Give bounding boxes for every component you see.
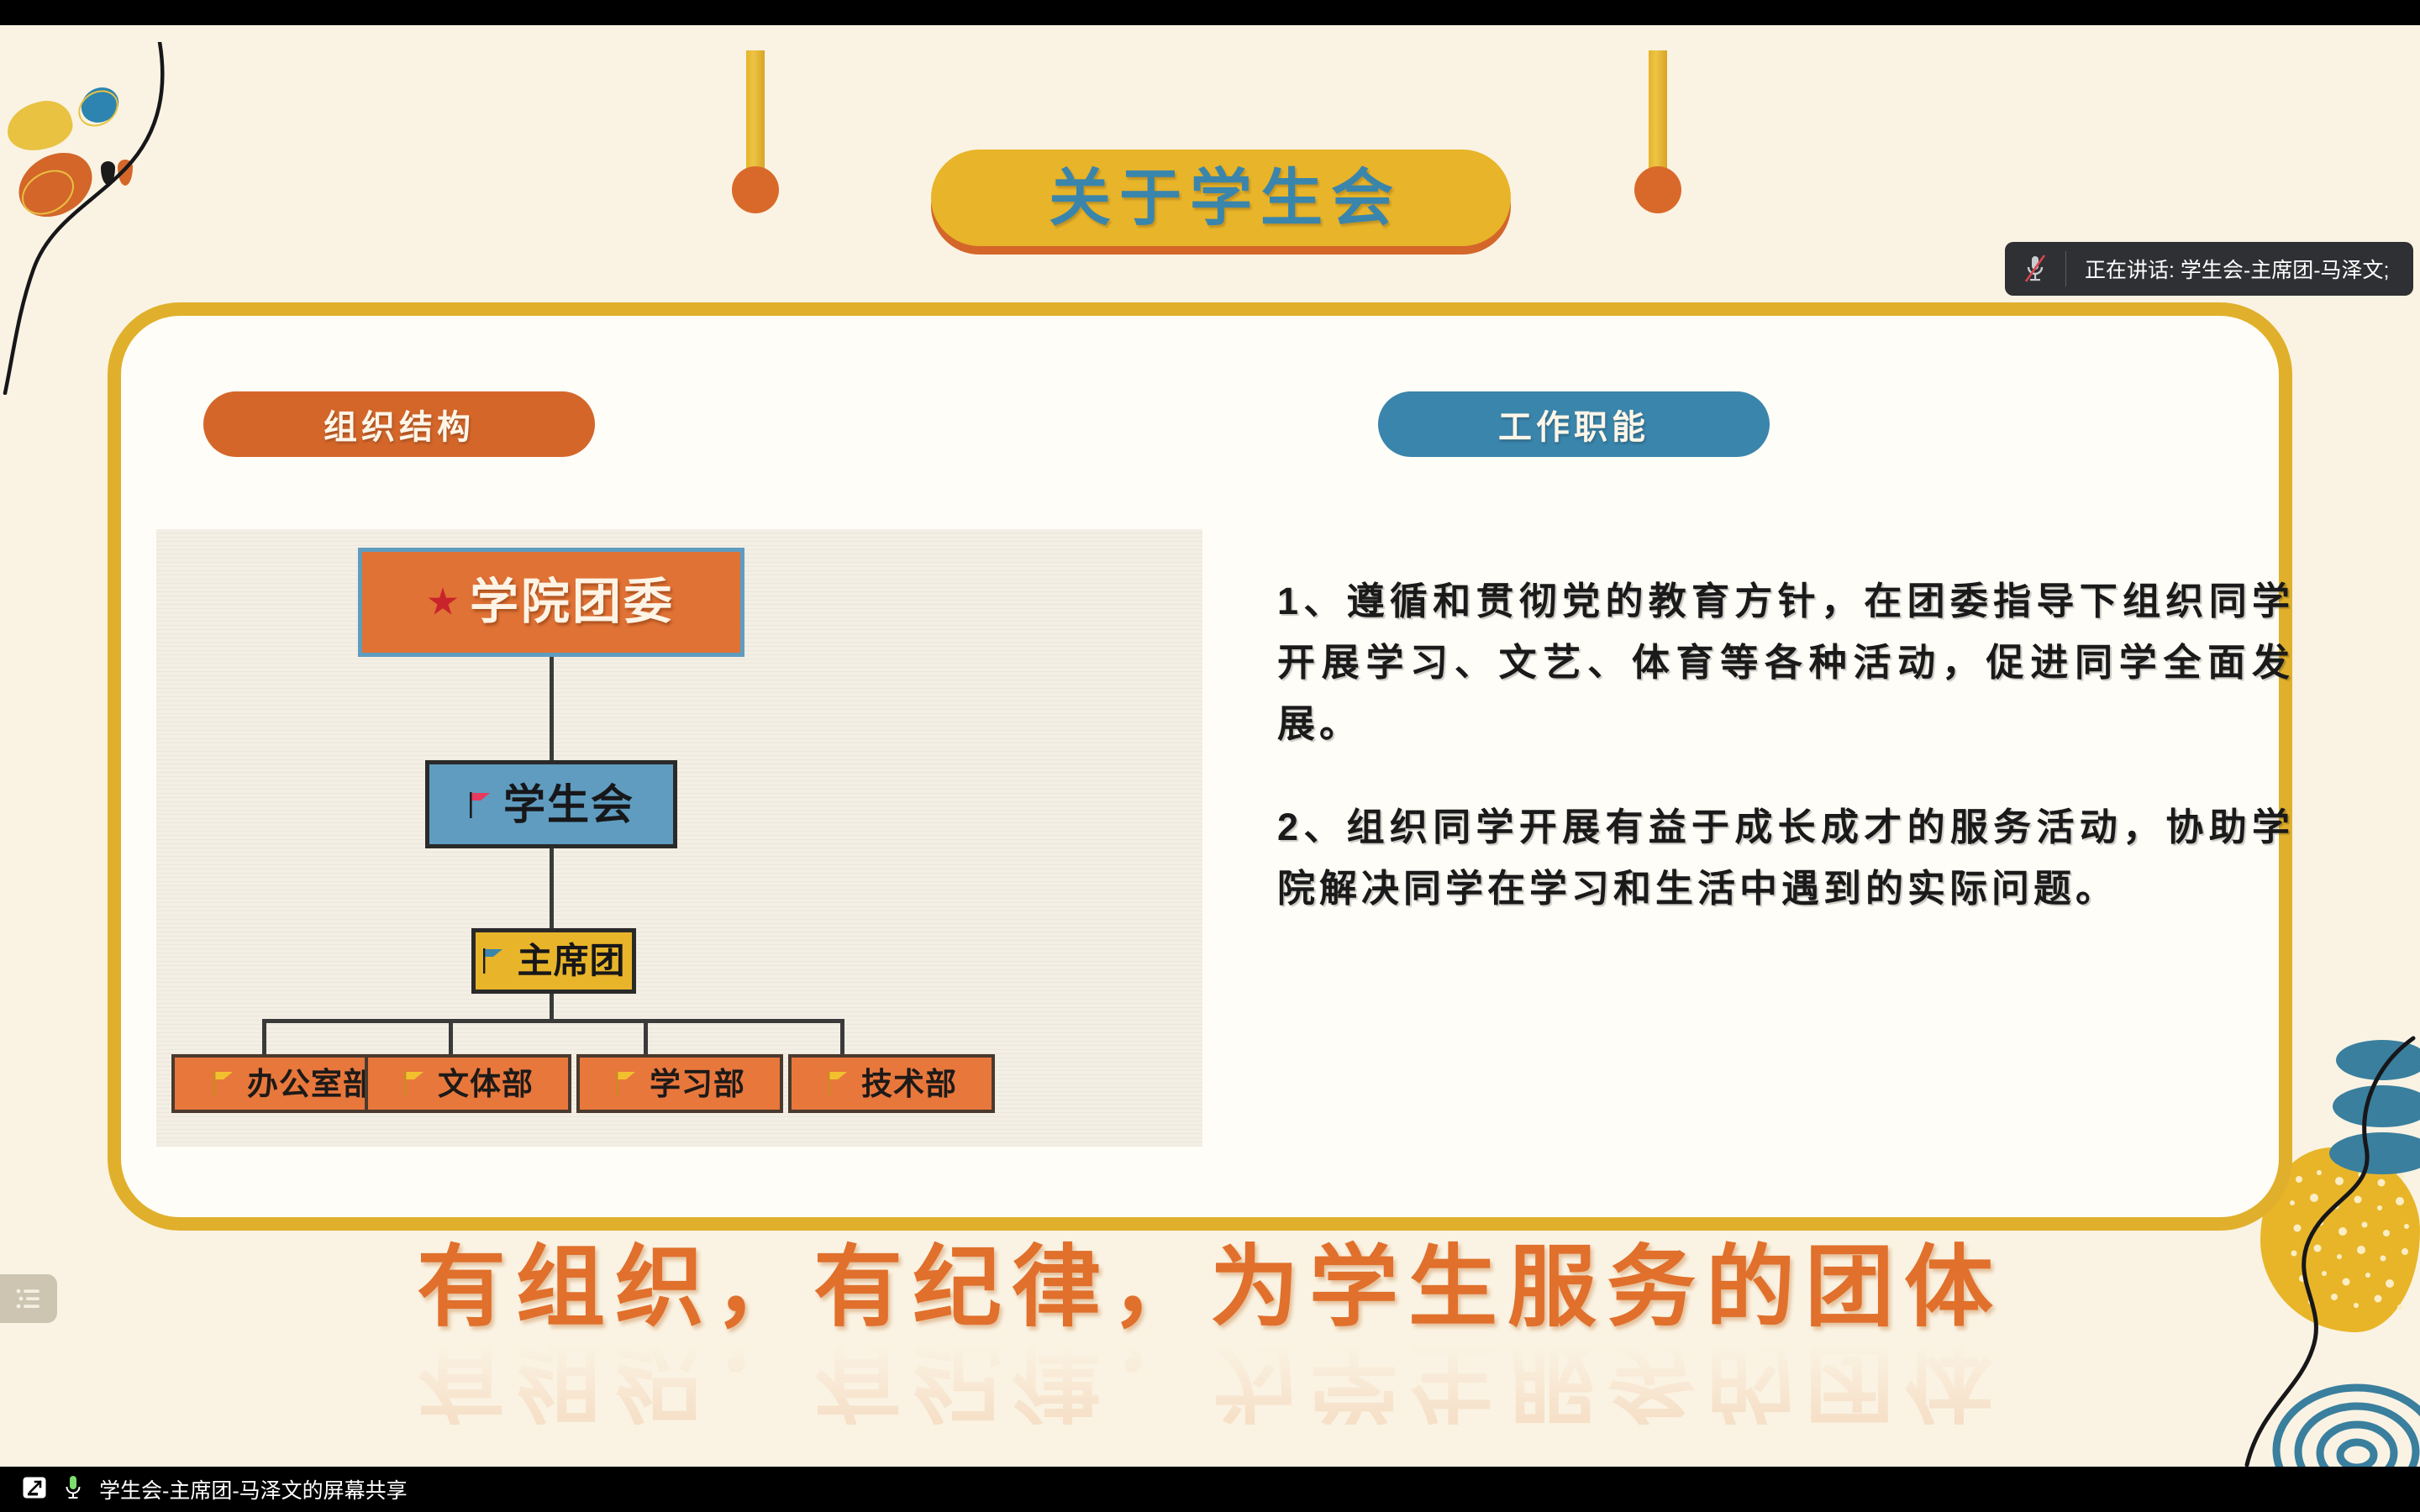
- connector-dept-3: [644, 1019, 648, 1054]
- org-node-level3-label: 主席团: [517, 943, 625, 979]
- org-node-college-youth-league: 学院团委: [358, 548, 744, 657]
- org-node-department-culture-sports: 文体部: [365, 1054, 571, 1113]
- connector-dept-4: [840, 1019, 844, 1054]
- screen-share-viewport: 关于学生会 组织结构 工作职能 学院团委: [0, 0, 2420, 1512]
- hanger-ball-right-icon: [1634, 166, 1681, 213]
- org-node-student-union: 学生会: [425, 760, 677, 848]
- yellow-flag-icon: [826, 1069, 850, 1098]
- hanger-ball-left-icon: [732, 166, 779, 213]
- decor-orange-teardrop-icon: [118, 160, 133, 186]
- function-paragraph-2: 2、组织同学开展有益于成长成才的服务活动，协助学院解决同学在学习和生活中遇到的实…: [1277, 797, 2294, 920]
- screen-share-icon[interactable]: [22, 1476, 47, 1504]
- decor-blue-pill-2-icon: [2333, 1085, 2420, 1127]
- decor-dark-teardrop-icon: [101, 161, 115, 185]
- connector-l1-l2: [550, 657, 554, 760]
- org-node-department-technology: 技术部: [788, 1054, 995, 1113]
- slide-tagline: 有组织，有纪律，为学生服务的团体: [417, 1243, 2003, 1332]
- section-header-organization-structure: 组织结构: [203, 391, 595, 457]
- connector-l2-l3: [550, 848, 554, 928]
- yellow-flag-icon: [402, 1069, 426, 1098]
- screen-share-status-bar: 学生会-主席团-马泽文的屏幕共享: [0, 1467, 2420, 1512]
- department-label-3: 技术部: [861, 1068, 957, 1100]
- red-flag-icon: [468, 790, 492, 819]
- mic-active-icon[interactable]: [64, 1474, 82, 1505]
- org-node-department-study: 学习部: [576, 1054, 783, 1113]
- department-label-2: 学习部: [650, 1068, 745, 1100]
- yellow-flag-icon: [614, 1069, 638, 1098]
- decor-blue-ellipse-ring-icon: [71, 83, 125, 134]
- connector-l3-down: [550, 994, 554, 1019]
- slide-tagline-reflection: 有组织，有纪律，为学生服务的团体: [0, 1336, 2420, 1425]
- section-header-right-label: 工作职能: [1498, 400, 1649, 449]
- hanger-right: [1649, 50, 1667, 176]
- blue-flag-icon: [481, 947, 505, 975]
- department-label-0: 办公室部: [247, 1068, 375, 1100]
- active-speaker-banner[interactable]: 正在讲话: 学生会-主席团-马泽文;: [2005, 242, 2413, 296]
- page-title: 关于学生会: [1040, 167, 1402, 229]
- yellow-flag-icon: [212, 1069, 235, 1098]
- section-header-left-label: 组织结构: [324, 400, 475, 449]
- decor-yellow-blob-icon: [2, 95, 76, 156]
- list-menu-icon: [14, 1288, 43, 1310]
- hanger-left: [746, 50, 765, 176]
- connector-dept-bus: [264, 1019, 844, 1023]
- top-letterbox-bar: [0, 0, 2420, 25]
- list-panel-toggle-button[interactable]: [0, 1274, 57, 1323]
- org-node-level2-label: 学生会: [503, 784, 634, 826]
- screen-share-label: 学生会-主席团-马泽文的屏幕共享: [99, 1474, 408, 1504]
- decor-blue-pill-1-icon: [2336, 1040, 2420, 1080]
- department-label-1: 文体部: [438, 1068, 534, 1100]
- org-node-presidium: 主席团: [471, 928, 636, 994]
- active-speaker-label: 正在讲话: 学生会-主席团-马泽文;: [2066, 254, 2413, 284]
- work-functions-text: 1、遵循和贯彻党的教育方针，在团委指导下组织同学开展学习、文艺、体育等各种活动，…: [1277, 571, 2294, 919]
- function-paragraph-1: 1、遵循和贯彻党的教育方针，在团委指导下组织同学开展学习、文艺、体育等各种活动，…: [1277, 571, 2294, 755]
- connector-dept-1: [262, 1019, 266, 1054]
- slide-tagline-wrap: 有组织，有纪律，为学生服务的团体 有组织，有纪律，为学生服务的团体: [0, 1243, 2420, 1425]
- org-chart-panel: 学院团委 学生会 主席团: [156, 529, 1202, 1147]
- connector-dept-2: [449, 1019, 453, 1054]
- mic-muted-icon: [2005, 242, 2065, 296]
- org-node-level1-label: 学院团委: [470, 578, 675, 627]
- section-header-work-functions: 工作职能: [1378, 391, 1770, 457]
- slide-title-banner: 关于学生会: [931, 150, 1511, 246]
- red-star-icon: [428, 587, 458, 617]
